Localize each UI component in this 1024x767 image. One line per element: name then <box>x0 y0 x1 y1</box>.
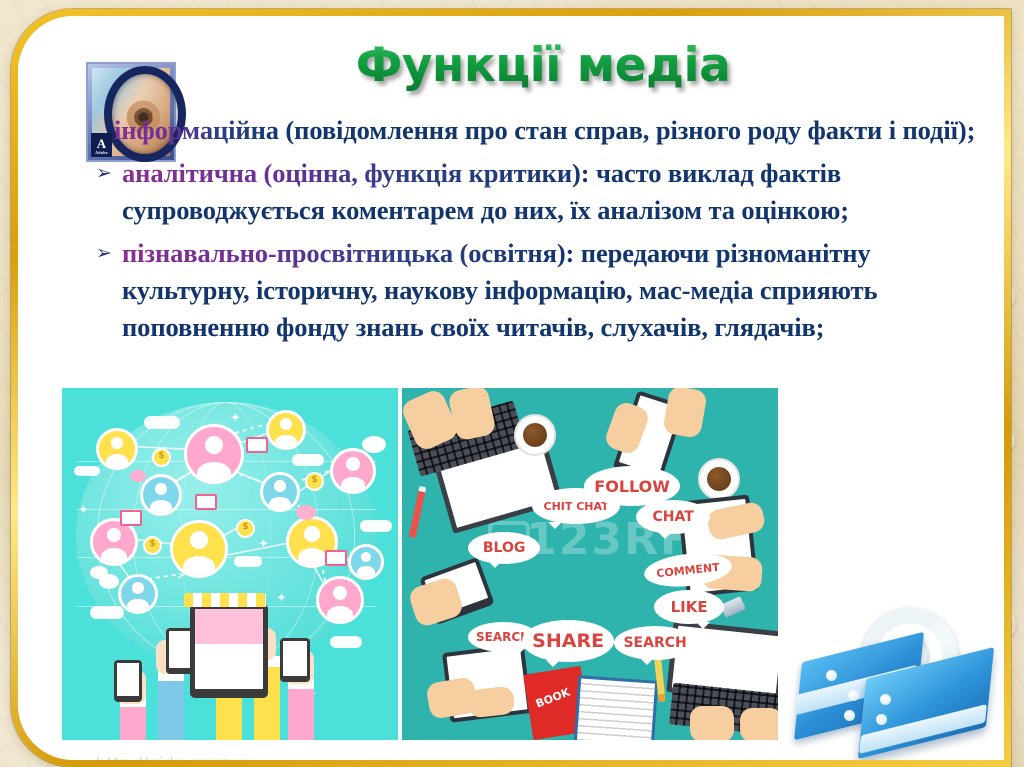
site-watermark: http://aida.ucoz.ru <box>96 754 253 760</box>
bubble-label: FOLLOW <box>594 477 670 496</box>
bubble-label: SEARCH <box>623 635 686 651</box>
hand <box>662 388 708 439</box>
bubble-label: LIKE <box>671 598 708 616</box>
bubble-tail <box>696 622 710 636</box>
chat-bubble-icon <box>296 505 316 520</box>
cloud-icon <box>360 520 392 532</box>
avatar <box>266 410 306 450</box>
smartphone <box>280 638 310 682</box>
bullet-list: інформаційна (повідомлення про стан спра… <box>86 112 986 352</box>
shop-window-tablet <box>190 604 268 698</box>
cloud-icon <box>330 636 362 648</box>
avatar <box>118 574 158 614</box>
bubble-label: CHAT <box>652 509 693 525</box>
avatar <box>316 576 364 624</box>
case-hinge-nub <box>880 694 891 705</box>
phone-screen <box>283 641 307 676</box>
mail-icon <box>195 494 217 510</box>
gold-frame: A Adobe Функції медіа інформаційна (пові… <box>11 9 1011 767</box>
list-item: ➢ пізнавально-просвітницька (освітня): п… <box>86 235 986 346</box>
bubble-label: SHARE <box>532 630 604 652</box>
coffee-cup-icon <box>514 414 556 456</box>
avatar <box>184 424 244 484</box>
bullet-marker: ➢ <box>86 235 122 272</box>
hand <box>740 708 778 740</box>
speech-bubble-search-right: SEARCH <box>614 626 696 660</box>
bubble-tail <box>510 649 524 663</box>
case-hinge-nub <box>826 670 837 681</box>
chat-bubble-icon <box>362 436 386 453</box>
case-hinge-nub <box>844 710 855 721</box>
bullet-text: аналітична (оцінна, функція критики): ча… <box>122 155 986 229</box>
speech-bubble-like: LIKE <box>654 590 724 624</box>
coin-icon: $ <box>236 519 255 538</box>
coffee-cup-icon <box>698 458 740 500</box>
bullet-text: пізнавально-просвітницька (освітня): пер… <box>122 235 986 346</box>
book-open <box>574 675 659 740</box>
book-label: BOOK <box>534 687 572 711</box>
slide-sheet: A Adobe Функції медіа інформаційна (пові… <box>18 16 1004 760</box>
avatar <box>348 544 384 580</box>
sparkle-icon: ✦ <box>78 504 89 517</box>
cloud-icon <box>74 466 100 476</box>
coin-icon: $ <box>143 536 162 555</box>
list-item: інформаційна (повідомлення про стан спра… <box>86 112 986 149</box>
mail-icon <box>325 550 347 566</box>
bullet-lead: аналітична (оцінна, функція критики): <box>122 158 589 188</box>
avatar <box>96 428 138 470</box>
bullet-text: інформаційна (повідомлення про стан спра… <box>114 112 986 149</box>
cloud-icon <box>234 556 262 567</box>
bullet-rest: (повідомлення про стан справ, різного ро… <box>279 115 975 145</box>
cloud-icon <box>292 454 324 466</box>
awning <box>184 593 266 607</box>
bubble-label: BLOG <box>483 540 526 556</box>
hand <box>690 706 734 740</box>
mail-icon <box>120 510 142 526</box>
chat-bubble-icon <box>130 470 146 482</box>
mail-icon <box>246 437 268 453</box>
avatar <box>260 472 300 512</box>
chat-bubble-icon <box>90 566 108 579</box>
coin-icon: $ <box>152 448 171 467</box>
sparkle-icon: ✦ <box>258 538 269 551</box>
case-hinge-nub <box>848 690 859 701</box>
bubble-tail <box>640 658 654 672</box>
avatar <box>330 448 376 494</box>
bubble-label: COMMENT <box>656 560 721 580</box>
pencil <box>409 486 427 538</box>
slide: A Adobe Функції медіа інформаційна (пові… <box>0 0 1024 767</box>
desk-social-media-illustration: 123RF <box>402 388 778 740</box>
bubble-tail <box>546 660 560 674</box>
page-title: Функції медіа <box>308 38 778 93</box>
speech-bubble-share: SHARE <box>522 620 614 662</box>
bullet-lead: пізнавально-просвітницька (освітня): <box>122 238 574 268</box>
coin-icon: $ <box>305 472 324 491</box>
bubble-tail <box>658 532 672 546</box>
bullet-lead: інформаційна <box>114 115 279 145</box>
cd-jewel-case-illustration <box>796 608 996 746</box>
illustration-strip: $ $ $ $ <box>62 388 778 740</box>
cloud-icon <box>90 606 124 619</box>
sparkle-icon: ✦ <box>230 412 241 425</box>
smartphone <box>114 660 142 702</box>
shop-screen <box>195 609 263 689</box>
eraser <box>720 596 746 618</box>
phone-screen <box>117 663 139 696</box>
case-hinge-nub <box>876 714 887 725</box>
avatar <box>140 474 182 516</box>
bubble-tail <box>648 454 662 468</box>
bubble-tail <box>488 561 502 575</box>
speech-bubble-blog: BLOG <box>468 532 540 564</box>
cloud-icon <box>144 416 180 429</box>
bubble-tail <box>548 522 562 536</box>
avatar <box>170 520 228 578</box>
social-network-globe-illustration: $ $ $ $ <box>62 388 398 740</box>
bullet-marker: ➢ <box>86 155 122 192</box>
sparkle-icon: ✦ <box>276 592 287 605</box>
bubble-label: CHIT CHAT <box>544 500 609 513</box>
list-item: ➢ аналітична (оцінна, функція критики): … <box>86 155 986 229</box>
speech-bubble-chat: CHAT <box>636 500 710 534</box>
